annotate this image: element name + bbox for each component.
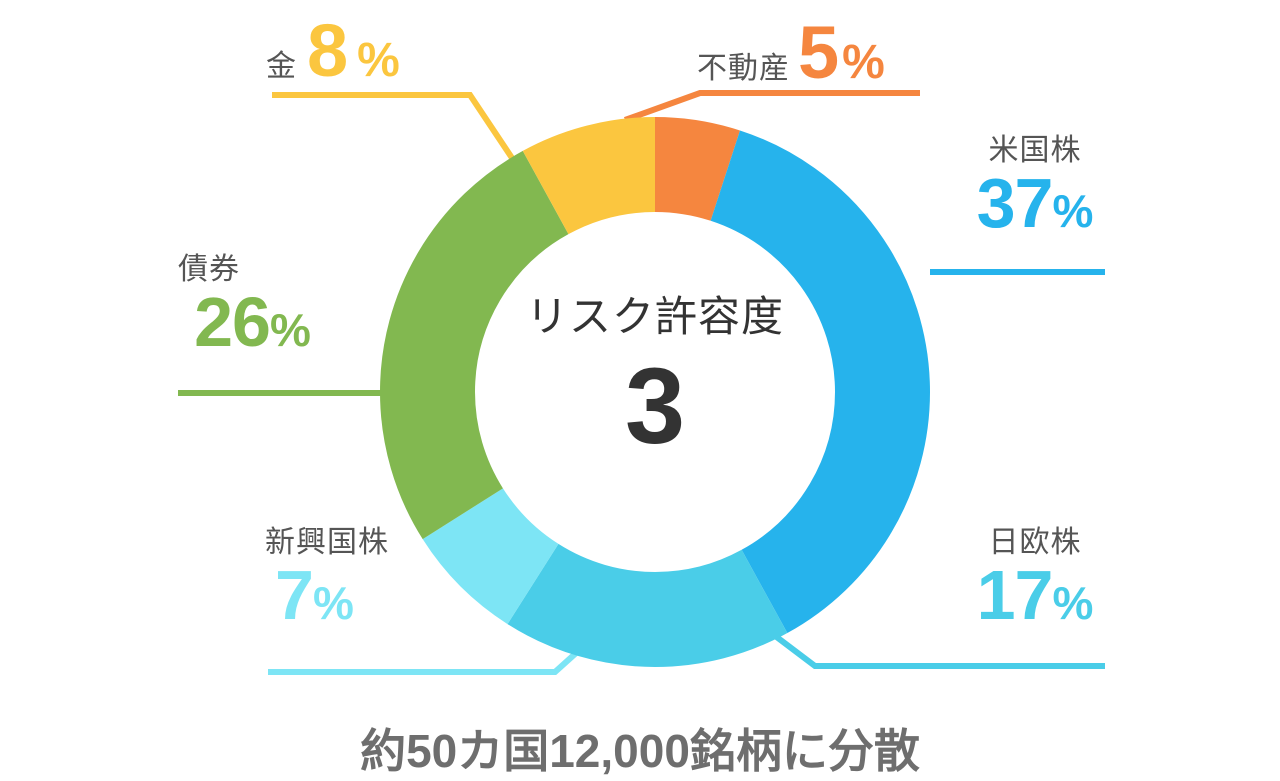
footer-note: 約50カ国12,000銘柄に分散 xyxy=(0,715,1280,781)
callout-emerging-label: 新興国株 xyxy=(265,526,389,559)
callout-realestate-label: 不動産 xyxy=(697,54,790,84)
callout-emerging-percent-sign: % xyxy=(313,577,354,629)
callout-gold-label: 金 xyxy=(266,52,297,82)
callout-us-value: 37 xyxy=(977,164,1053,242)
callout-gold-value: 8 xyxy=(307,14,347,88)
chart-canvas: リスク許容度 3 金 8 % 不動産 5 % 米国株 37% 日欧株 17 xyxy=(0,0,1280,780)
callout-realestate: 不動産 5 % xyxy=(697,16,885,90)
callout-bonds: 債券 26% xyxy=(170,255,335,356)
leader-line-jpeu xyxy=(770,632,1105,666)
leader-line-emerging xyxy=(268,645,585,672)
callout-jpeu-label: 日欧株 xyxy=(989,526,1082,559)
callout-bonds-label: 債券 xyxy=(178,253,240,286)
callout-jpeu-percent-sign: % xyxy=(1052,577,1093,629)
callout-realestate-value: 5 xyxy=(798,16,838,90)
callout-emerging-value: 7 xyxy=(275,556,313,634)
callout-gold: 金 8 % xyxy=(266,14,400,88)
callout-emerging: 新興国株 7% xyxy=(265,528,450,629)
callout-us-percent-sign: % xyxy=(1052,185,1093,237)
callout-us-label: 米国株 xyxy=(989,134,1082,167)
callout-bonds-value: 26 xyxy=(194,283,270,361)
donut-chart xyxy=(0,0,1280,780)
callout-jpeu-value: 17 xyxy=(977,556,1053,634)
leader-line-realestate xyxy=(625,93,920,120)
donut-segments xyxy=(428,165,883,620)
callout-jpeu: 日欧株 17% xyxy=(955,528,1115,629)
callout-realestate-percent-sign: % xyxy=(842,39,885,87)
callout-bonds-percent-sign: % xyxy=(270,304,311,356)
callout-gold-percent-sign: % xyxy=(357,37,400,85)
callout-us: 米国株 37% xyxy=(955,136,1115,237)
